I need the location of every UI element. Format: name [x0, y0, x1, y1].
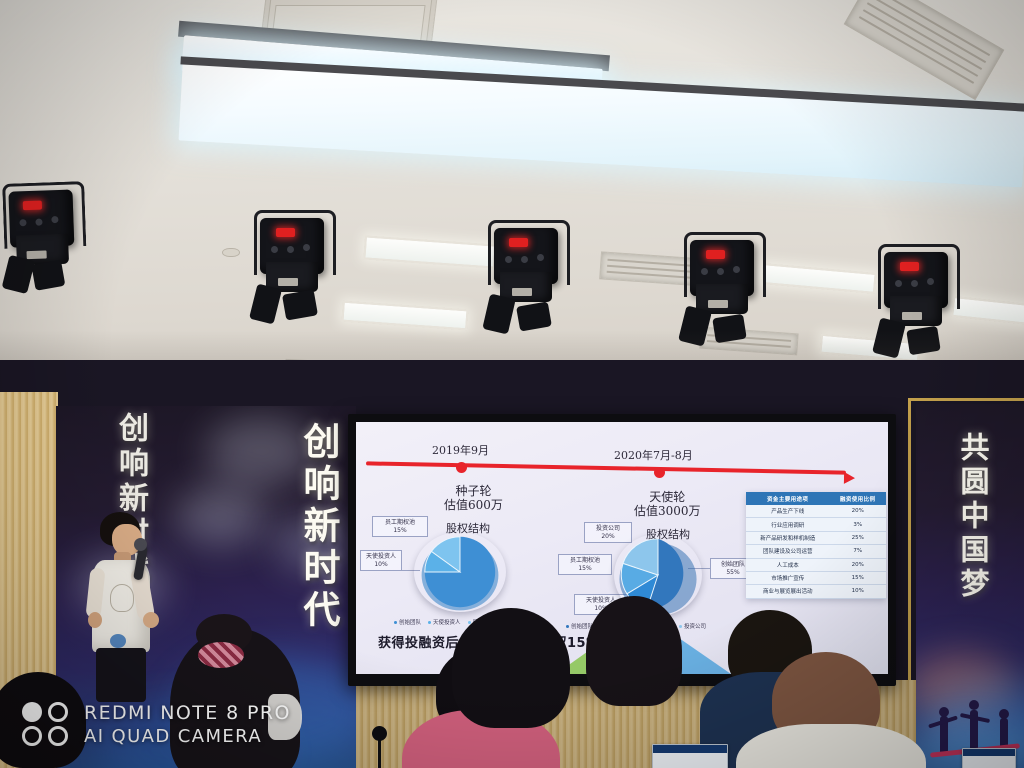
callout-label: 员工期权池	[385, 519, 415, 526]
callout-label: 投资公司	[596, 525, 620, 532]
microphone-head-icon	[134, 538, 147, 551]
audience-hair	[586, 596, 682, 706]
redmi-quad-camera-logo-icon	[22, 702, 72, 748]
table-row: 市场推广宣传15%	[746, 571, 886, 584]
smoke-detector	[222, 248, 240, 257]
callout-value: 15%	[578, 565, 591, 572]
round-2-callout-investment-firm: 投资公司 20%	[584, 522, 632, 543]
round-2-name: 天使轮	[634, 490, 701, 504]
timeline-milestone-date: 2020年7月-8月	[614, 447, 693, 463]
table-row: 产品生产下线20%	[746, 505, 886, 518]
timeline-milestone-date: 2019年9月	[432, 442, 489, 458]
table-row: 团队建设及公司运营7%	[746, 545, 886, 558]
camera-watermark: REDMI NOTE 8 PRO AI QUAD CAMERA	[22, 702, 291, 748]
name-card	[652, 744, 728, 768]
right-banner-frame	[908, 398, 1024, 768]
callout-label: 员工期权池	[570, 557, 600, 564]
conference-hall-photo: 创响新时代 创响新时代 共圆中国梦	[0, 0, 1024, 768]
presenter-shirt-graphic	[110, 584, 134, 612]
presenter-hand-left	[88, 612, 102, 628]
presenter-shirt-logo	[110, 634, 126, 648]
legend-item: 天使投资人	[428, 618, 461, 626]
timeline-milestone-dot	[456, 462, 467, 473]
callout-value: 20%	[601, 533, 614, 540]
timeline-arrow-icon	[844, 472, 855, 484]
hair-scrunchie	[198, 642, 244, 668]
name-card	[962, 748, 1016, 768]
round-1-valuation: 估值600万	[444, 498, 503, 512]
presenter-hand	[143, 612, 159, 628]
callout-value: 55%	[726, 569, 739, 576]
table-row: 行业应用调研3%	[746, 518, 886, 531]
round-1-callout-employee-pool: 员工期权池 15%	[372, 516, 428, 537]
timeline-axis	[366, 461, 846, 474]
left-banner-text: 创响新时代	[292, 422, 346, 632]
fund-usage-table: 资金主要用途项 融资使用比例 产品生产下线20% 行业应用调研3% 新产品研发和…	[746, 492, 886, 599]
table-header-ratio: 融资使用比例	[829, 492, 886, 505]
watermark-line-1: REDMI NOTE 8 PRO	[84, 702, 291, 725]
table-row: 新产品研发和样机制造25%	[746, 531, 886, 544]
name-card-bar	[963, 749, 1015, 756]
round-2-valuation: 估值3000万	[634, 504, 701, 518]
round-1-title: 种子轮 估值600万	[444, 484, 503, 512]
legend-item: 投资公司	[679, 622, 706, 630]
table-row: 商业与展览展出活动10%	[746, 585, 886, 598]
table-row: 人工成本20%	[746, 558, 886, 571]
callout-label: 创始团队	[721, 561, 745, 568]
name-card-bar	[653, 745, 727, 753]
legend-item: 创始团队	[394, 618, 421, 626]
callout-value: 10%	[374, 561, 387, 568]
round-2-callout-employee-pool: 员工期权池 15%	[558, 554, 612, 575]
callout-value: 15%	[393, 527, 406, 534]
callout-label: 天使投资人	[366, 553, 396, 560]
round-2-title: 天使轮 估值3000万	[634, 490, 701, 518]
table-header-row: 资金主要用途项 融资使用比例	[746, 492, 886, 505]
timeline-milestone-dot	[654, 467, 665, 478]
watermark-text: REDMI NOTE 8 PRO AI QUAD CAMERA	[84, 702, 291, 748]
presenter-pants	[96, 648, 146, 702]
round-1-name: 种子轮	[444, 484, 503, 498]
watermark-line-2: AI QUAD CAMERA	[84, 725, 291, 748]
table-header-use: 资金主要用途项	[746, 492, 829, 505]
audience-hair	[452, 608, 570, 728]
microphone-head-icon	[372, 726, 387, 741]
round-1-pie-chart	[414, 532, 506, 612]
round-1-callout-angel: 天使投资人 10%	[360, 550, 402, 571]
